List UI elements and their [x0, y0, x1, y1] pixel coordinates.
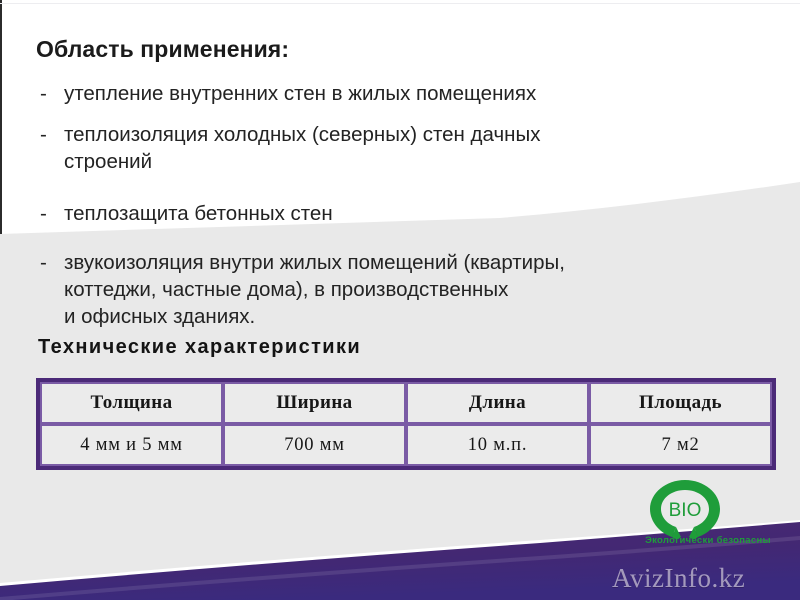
table-header-cell-length: Длина	[406, 382, 589, 424]
table-row: 4 мм и 5 мм 700 мм 10 м.п. 7 м2	[40, 424, 772, 466]
list-item-line: теплозащита бетонных стен	[64, 200, 758, 227]
table-header-cell-area: Площадь	[589, 382, 772, 424]
table-header-cell-width: Ширина	[223, 382, 406, 424]
bio-eco-caption: Экологически безопасны	[622, 535, 794, 546]
bullet-dash-icon: -	[40, 121, 47, 148]
list-item: - утепление внутренних стен в жилых поме…	[38, 80, 758, 107]
application-areas-list: - утепление внутренних стен в жилых поме…	[38, 80, 758, 330]
bio-eco-logo: BIO	[646, 477, 724, 543]
slide-canvas: Область применения: - утепление внутренн…	[0, 0, 800, 600]
table-cell-area: 7 м2	[589, 424, 772, 466]
specs-heading: Технические характеристики	[38, 336, 361, 359]
list-item: - теплозащита бетонных стен	[38, 200, 758, 227]
table-cell-width: 700 мм	[223, 424, 406, 466]
table-cell-length: 10 м.п.	[406, 424, 589, 466]
site-watermark: AvizInfo.kz	[612, 563, 745, 594]
tree-ring-icon: BIO	[646, 477, 724, 543]
table-header-cell-thickness: Толщина	[40, 382, 223, 424]
top-hairline	[0, 3, 800, 4]
list-item-line: теплоизоляция холодных (северных) стен д…	[64, 121, 758, 148]
table-cell-thickness: 4 мм и 5 мм	[40, 424, 223, 466]
list-item-line: утепление внутренних стен в жилых помеще…	[64, 80, 758, 107]
bullet-dash-icon: -	[40, 80, 47, 107]
bullet-dash-icon: -	[40, 200, 47, 227]
page-title: Область применения:	[36, 36, 289, 63]
table-header-row: Толщина Ширина Длина Площадь	[40, 382, 772, 424]
list-item-line: строений	[64, 148, 758, 175]
bullet-dash-icon: -	[40, 249, 47, 276]
bio-logo-text: BIO	[669, 500, 702, 521]
list-item-line: коттеджи, частные дома), в производствен…	[64, 276, 758, 303]
left-edge-rule	[0, 0, 2, 234]
list-item: - звукоизоляция внутри жилых помещений (…	[38, 249, 758, 330]
list-item: - теплоизоляция холодных (северных) стен…	[38, 121, 758, 175]
list-item-line: звукоизоляция внутри жилых помещений (кв…	[64, 249, 758, 276]
list-item-line: и офисных зданиях.	[64, 303, 758, 330]
specs-table: Толщина Ширина Длина Площадь 4 мм и 5 мм…	[36, 378, 776, 470]
